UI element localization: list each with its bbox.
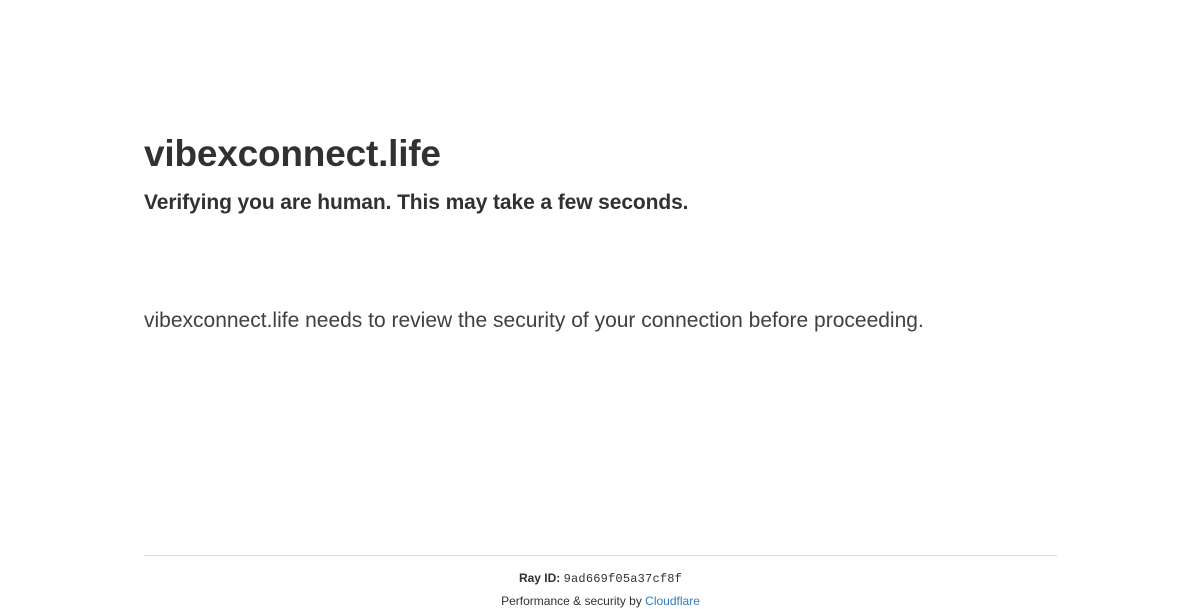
challenge-widget-placeholder[interactable] [144, 217, 484, 303]
verification-status-text: Verifying you are human. This may take a… [144, 177, 1057, 217]
attribution-prefix: Performance & security by [501, 594, 645, 608]
attribution-row: Performance & security by Cloudflare [144, 587, 1057, 609]
cloudflare-link[interactable]: Cloudflare [645, 594, 700, 608]
ray-id-value: 9ad669f05a37cf8f [564, 572, 682, 586]
challenge-description: vibexconnect.life needs to review the se… [144, 303, 944, 339]
page-title: vibexconnect.life [144, 0, 1057, 177]
challenge-content: vibexconnect.life Verifying you are huma… [144, 0, 1057, 339]
ray-id-label: Ray ID: [519, 571, 560, 585]
page-footer: Ray ID: 9ad669f05a37cf8f Performance & s… [144, 556, 1057, 609]
ray-id-row: Ray ID: 9ad669f05a37cf8f [144, 556, 1057, 587]
challenge-page: vibexconnect.life Verifying you are huma… [0, 0, 1200, 600]
